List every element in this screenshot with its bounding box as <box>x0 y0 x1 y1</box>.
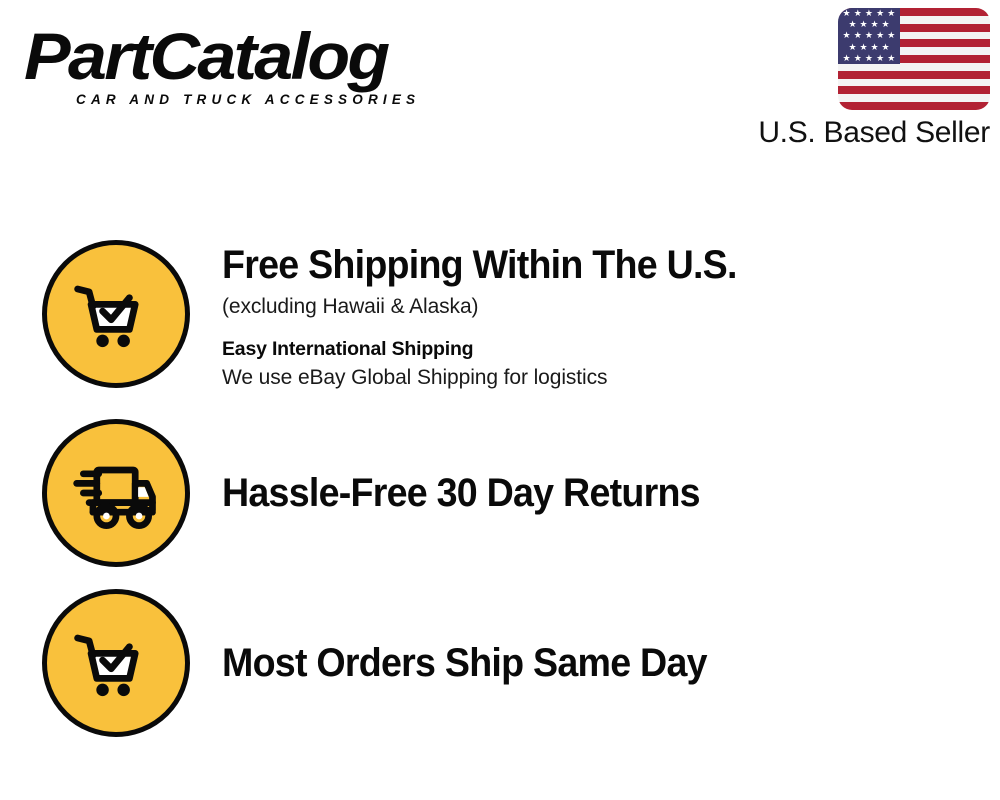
flag-star: ★ <box>865 9 873 18</box>
flag-star: ★ <box>843 54 851 63</box>
logo-wordmark: PartCatalog <box>24 22 522 90</box>
flag-star: ★ <box>881 20 889 29</box>
us-flag-icon: ★ ★ ★ ★ ★ ★ ★ ★ ★ ★ ★ ★ <box>838 8 990 110</box>
flag-star: ★ <box>881 43 889 52</box>
flag-star: ★ <box>876 9 884 18</box>
flag-star: ★ <box>859 20 867 29</box>
flag-star: ★ <box>870 20 878 29</box>
flag-star: ★ <box>870 43 878 52</box>
flag-canton: ★ ★ ★ ★ ★ ★ ★ ★ ★ ★ ★ ★ <box>838 8 900 64</box>
delivery-truck-icon <box>42 419 190 567</box>
flag-stripe <box>838 71 990 79</box>
feature-subline: (excluding Hawaii & Alaska) <box>222 292 962 322</box>
shopping-cart-check-icon <box>42 240 190 388</box>
feature-headline: Most Orders Ship Same Day <box>222 640 918 686</box>
us-based-seller-badge: ★ ★ ★ ★ ★ ★ ★ ★ ★ ★ ★ ★ <box>710 8 990 150</box>
flag-star: ★ <box>887 9 895 18</box>
flag-star: ★ <box>843 31 851 40</box>
flag-star: ★ <box>865 54 873 63</box>
feature-headline: Free Shipping Within The U.S. <box>222 242 918 288</box>
flag-star-row: ★ ★ ★ ★ ★ <box>838 8 900 19</box>
shopping-cart-check-icon <box>42 589 190 737</box>
flag-star: ★ <box>854 31 862 40</box>
flag-star: ★ <box>876 54 884 63</box>
flag-stripe <box>838 102 990 110</box>
feature-row: Most Orders Ship Same Day <box>42 585 962 740</box>
flag-stripe <box>838 79 990 87</box>
feature-row: Hassle-Free 30 Day Returns <box>42 415 962 570</box>
logo-tagline: CAR AND TRUCK ACCESSORIES <box>76 92 494 107</box>
feature-text-block: Most Orders Ship Same Day <box>222 640 962 686</box>
feature-subheadline: Easy International Shipping <box>222 336 962 362</box>
flag-star: ★ <box>887 31 895 40</box>
flag-star: ★ <box>859 43 867 52</box>
flag-star-row: ★ ★ ★ ★ <box>838 19 900 30</box>
promo-banner: PartCatalog CAR AND TRUCK ACCESSORIES <box>0 0 1000 800</box>
feature-text-block: Free Shipping Within The U.S. (excluding… <box>222 240 962 392</box>
banner-header: PartCatalog CAR AND TRUCK ACCESSORIES <box>0 0 1000 175</box>
flag-stripe <box>838 86 990 94</box>
flag-star: ★ <box>887 54 895 63</box>
flag-star: ★ <box>848 43 856 52</box>
flag-star: ★ <box>876 31 884 40</box>
us-based-seller-label: U.S. Based Seller <box>710 116 990 150</box>
flag-star: ★ <box>865 31 873 40</box>
feature-headline: Hassle-Free 30 Day Returns <box>222 470 918 516</box>
flag-stripe <box>838 63 990 71</box>
flag-star: ★ <box>843 9 851 18</box>
flag-star-row: ★ ★ ★ ★ ★ <box>838 53 900 64</box>
brand-logo[interactable]: PartCatalog CAR AND TRUCK ACCESSORIES <box>24 22 494 107</box>
flag-star: ★ <box>854 54 862 63</box>
feature-subline-secondary: We use eBay Global Shipping for logistic… <box>222 363 962 392</box>
flag-star: ★ <box>848 20 856 29</box>
feature-row: Free Shipping Within The U.S. (excluding… <box>42 240 962 400</box>
flag-star-row: ★ ★ ★ ★ ★ <box>838 30 900 41</box>
feature-text-block: Hassle-Free 30 Day Returns <box>222 470 962 516</box>
flag-stripe <box>838 94 990 102</box>
flag-star: ★ <box>854 9 862 18</box>
flag-star-row: ★ ★ ★ ★ <box>838 42 900 53</box>
